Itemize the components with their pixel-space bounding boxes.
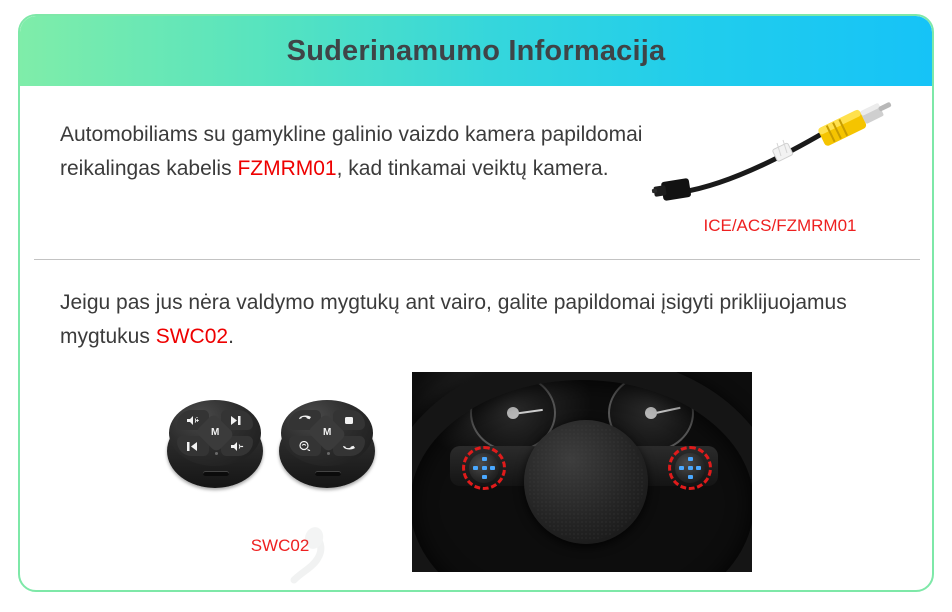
- section-rear-camera-cable: Automobiliams su gamykline galinio vaizd…: [20, 86, 932, 256]
- cable-part-number: FZMRM01: [237, 157, 336, 180]
- mode-label-phone: M: [323, 428, 331, 438]
- puck-led-phone: [327, 452, 330, 455]
- watermark-icon: [252, 526, 372, 592]
- rca-cable-icon: [650, 94, 900, 214]
- section-divider: [34, 259, 920, 260]
- cable-rca-connector: [817, 95, 895, 147]
- puck-top-media: M: [169, 400, 261, 466]
- steering-wheel-photo: [412, 372, 752, 572]
- cable-caption: ICE/ACS/FZMRM01: [650, 216, 910, 236]
- puck-slot-phone: [315, 471, 341, 476]
- puck-led-media: [215, 452, 218, 455]
- cable-illustration: [650, 94, 900, 214]
- highlight-circle-right: [668, 446, 712, 490]
- swc-illustration: M: [165, 398, 395, 508]
- puck-top-phone: M: [281, 400, 373, 466]
- cable-figure: ICE/ACS/FZMRM01: [650, 94, 910, 236]
- swc-paragraph: Jeigu pas jus nėra valdymo mygtukų ant v…: [60, 286, 850, 354]
- background-watermark: [252, 526, 372, 592]
- wheel-figure: [412, 372, 752, 572]
- swc-part-number: SWC02: [156, 325, 228, 348]
- highlight-circle-left: [462, 446, 506, 490]
- compatibility-info-card: Suderinamumo Informacija Automobiliams s…: [18, 14, 934, 592]
- steering-wheel-hub: [524, 420, 648, 544]
- cable-paragraph-part2: , kad tinkamai veiktų kamera.: [337, 157, 609, 180]
- swc-puck-phone: M: [277, 398, 377, 498]
- page-title: Suderinamumo Informacija: [287, 35, 666, 68]
- swc-paragraph-part2: .: [228, 325, 234, 348]
- puck-slot-media: [203, 471, 229, 476]
- card-header: Suderinamumo Informacija: [20, 16, 932, 86]
- cable-black-plug: [652, 178, 692, 201]
- mode-label-media: M: [211, 428, 219, 438]
- cable-paragraph: Automobiliams su gamykline galinio vaizd…: [60, 118, 660, 186]
- swc-puck-media: M: [165, 398, 265, 498]
